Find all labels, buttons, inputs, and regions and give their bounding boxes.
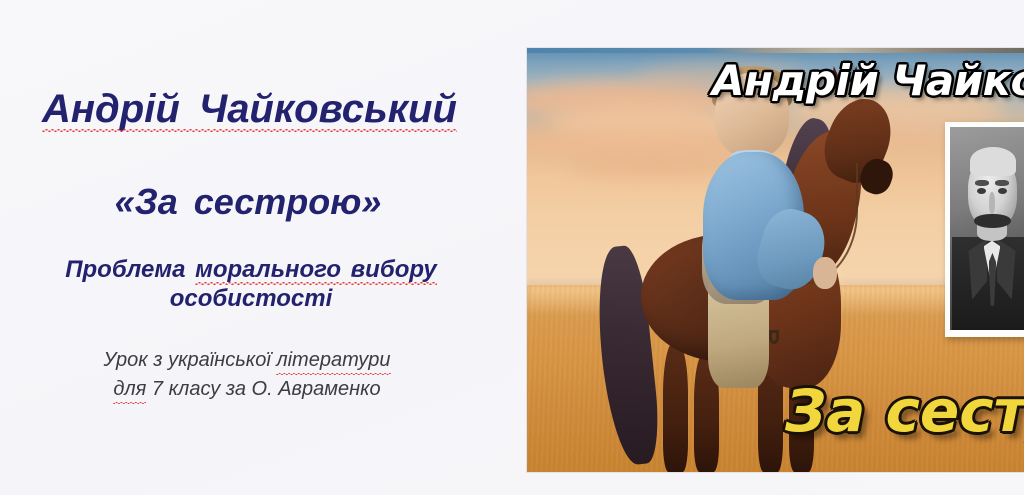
theme-text-plain: Проблема: [65, 256, 195, 283]
title-text-column: Андрій Чайковський «За сестрою» Проблема…: [0, 0, 520, 495]
horse-leg: [663, 343, 688, 472]
cover-author-caption: Андрій Чайковський: [712, 60, 1024, 102]
boy-rider-figure: [676, 73, 825, 336]
slide-canvas: Андрій Чайковський «За сестрою» Проблема…: [0, 0, 1024, 495]
theme-subheading: Проблема морального вибору особистості: [0, 255, 520, 314]
portrait-forehead: [970, 147, 1015, 175]
author-name-heading: Андрій Чайковський: [42, 88, 457, 130]
lesson-meta-marked-literature: літератури: [276, 346, 390, 375]
portrait-eyebrow: [975, 180, 988, 186]
author-name-text: Андрій Чайковський: [42, 88, 457, 130]
lesson-meta-line-1: Урок з української літератури: [0, 346, 494, 375]
theme-text-second-row: особистості: [0, 284, 502, 313]
lesson-meta-block: Урок з української літератури для 7 клас…: [0, 346, 520, 404]
author-portrait-frame: [945, 122, 1024, 337]
work-title-text: «За сестрою»: [115, 181, 382, 222]
rider-hand: [813, 257, 837, 289]
portrait-nose: [989, 192, 996, 214]
theme-text-marked: морального вибору: [195, 255, 437, 284]
lesson-meta-line-2: для 7 класу за О. Авраменко: [0, 375, 494, 404]
work-title-heading: «За сестрою»: [0, 183, 520, 221]
cover-top-edge-strip: [527, 48, 1024, 53]
author-portrait-photo: [950, 127, 1024, 330]
book-cover-image: Андрій Чайковський За сестрою: [527, 48, 1024, 472]
portrait-eyebrow: [995, 180, 1008, 186]
lesson-meta-grade-author: 7 класу за О. Авраменко: [146, 378, 380, 400]
lesson-meta-prefix: Урок з української: [103, 349, 276, 371]
cover-title-caption: За сестрою: [785, 382, 1024, 440]
lesson-meta-marked-for: для: [113, 375, 146, 404]
